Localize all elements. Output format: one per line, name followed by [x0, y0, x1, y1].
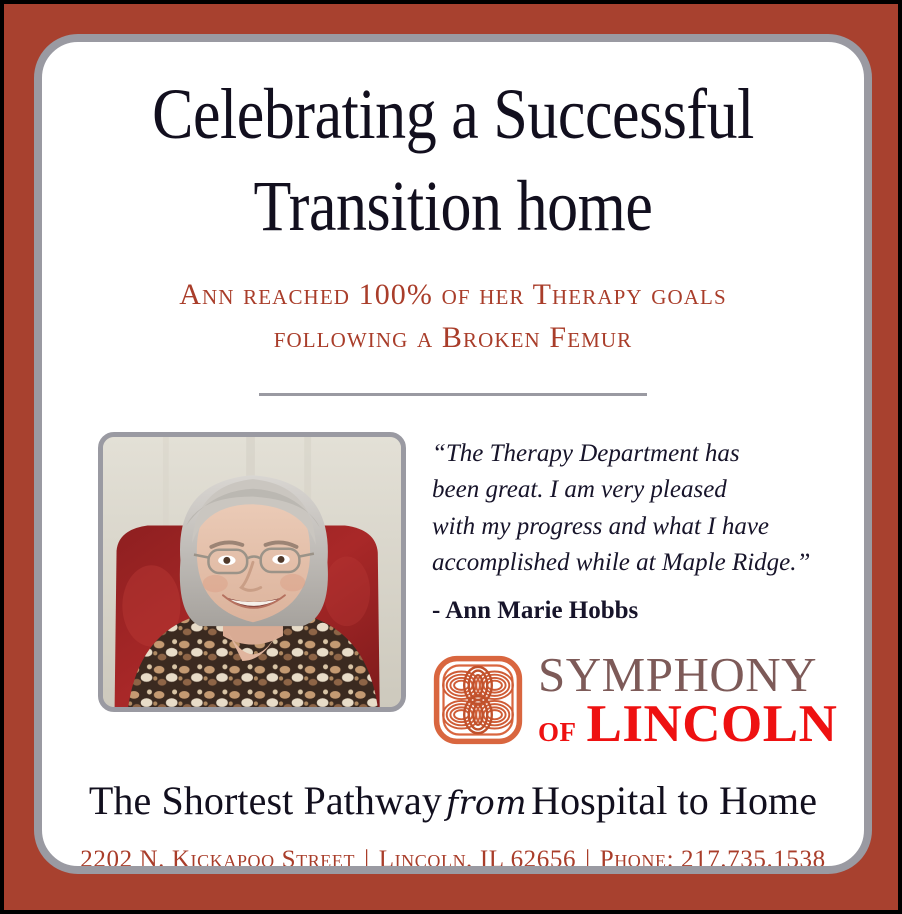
tagline-part-2: Hospital to Home [531, 778, 817, 823]
logo-wordmark: SYMPHONY OFLINCOLN [538, 652, 837, 750]
symphony-quatrefoil-mark-icon [432, 654, 524, 746]
tagline-part-1: The Shortest Pathway [89, 778, 442, 823]
portrait-photo-illustration [103, 437, 401, 707]
poster-card: Celebrating a Successful Transition home… [34, 34, 872, 874]
quatrefoil-icon-svg [432, 654, 524, 746]
testimonial-quote: “The Therapy Department has been great. … [432, 436, 838, 582]
poster-frame: Celebrating a Successful Transition home… [0, 0, 902, 914]
logo-second-line: OFLINCOLN [538, 700, 837, 750]
logo-of-text: OF [538, 717, 577, 747]
address-street: 2202 N. Kickapoo Street [80, 846, 355, 873]
resident-photo [98, 432, 406, 712]
contact-line: 2202 N. Kickapoo Street|Lincoln, IL 6265… [68, 845, 838, 874]
address-phone: Phone: 217.735.1538 [600, 846, 826, 873]
address-city-state-zip: Lincoln, IL 62656 [379, 846, 576, 873]
tagline: The Shortest PathwayfromHospital to Home [68, 779, 838, 823]
logo-symphony-text: SYMPHONY [538, 652, 837, 698]
testimonial-row: “The Therapy Department has been great. … [68, 432, 838, 750]
subtitle: Ann reached 100% of her Therapy goals fo… [73, 274, 833, 359]
logo-lincoln-text: LINCOLN [587, 695, 838, 753]
testimonial-column: “The Therapy Department has been great. … [432, 432, 838, 750]
symphony-of-lincoln-logo: SYMPHONY OFLINCOLN [432, 652, 838, 750]
address-separator-2: | [576, 846, 600, 873]
tagline-script-word: from [442, 783, 531, 822]
horizontal-rule [259, 393, 647, 396]
divider-container [68, 386, 838, 404]
testimonial-attribution: - Ann Marie Hobbs [432, 596, 838, 626]
address-separator-1: | [355, 846, 379, 873]
poster-card-content: Celebrating a Successful Transition home… [42, 42, 864, 866]
page-title: Celebrating a Successful Transition home [122, 42, 784, 252]
